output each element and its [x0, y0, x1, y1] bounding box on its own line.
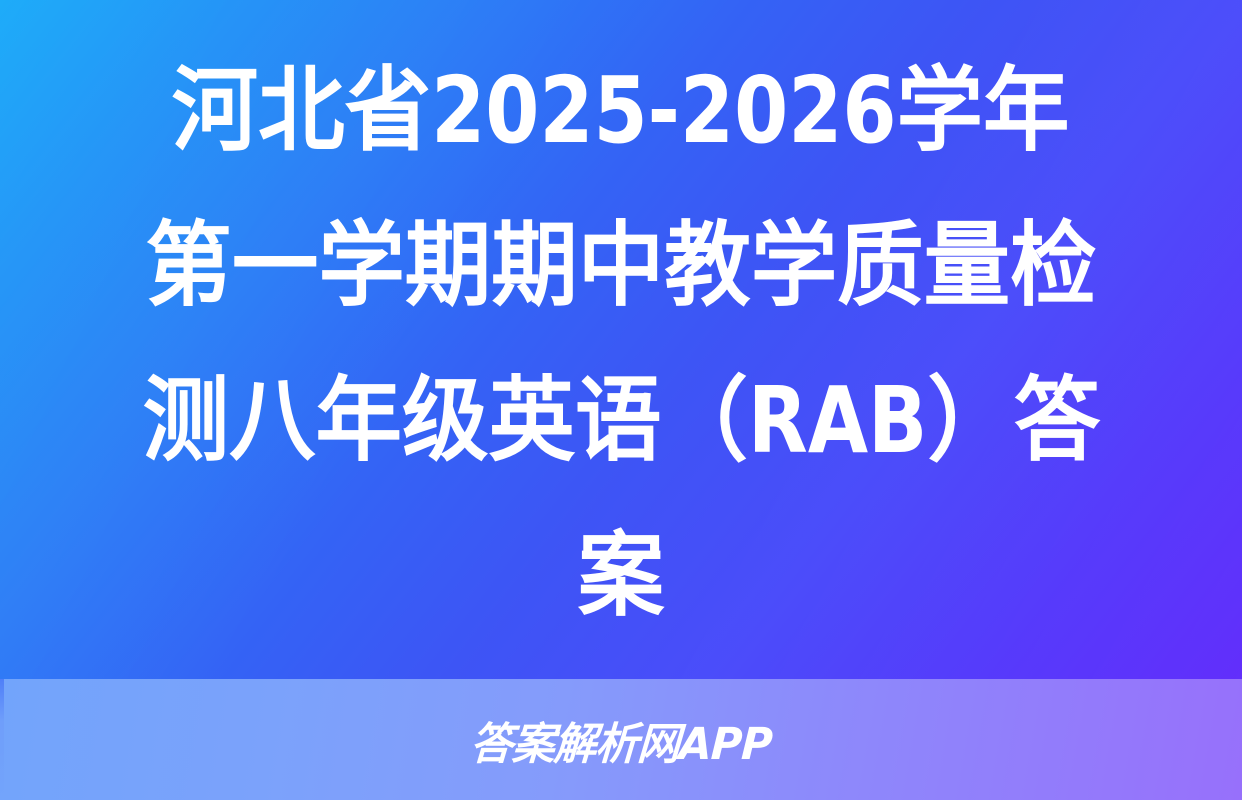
poster-title-block: 河北省2025-2026学年 第一学期期中教学质量检 测八年级英语（RAB）答 …: [0, 0, 1242, 679]
poster-canvas: 河北省2025-2026学年 第一学期期中教学质量检 测八年级英语（RAB）答 …: [0, 0, 1242, 800]
title-line-2: 第一学期期中教学质量检: [145, 188, 1096, 343]
watermark-app-label: 答案解析网APP: [469, 708, 774, 772]
title-line-3: 测八年级英语（RAB）答: [142, 343, 1100, 498]
title-line-4: 案: [578, 498, 664, 653]
watermark-footer-bar: 答案解析网APP: [0, 679, 1242, 800]
title-line-1: 河北省2025-2026学年: [172, 33, 1070, 188]
